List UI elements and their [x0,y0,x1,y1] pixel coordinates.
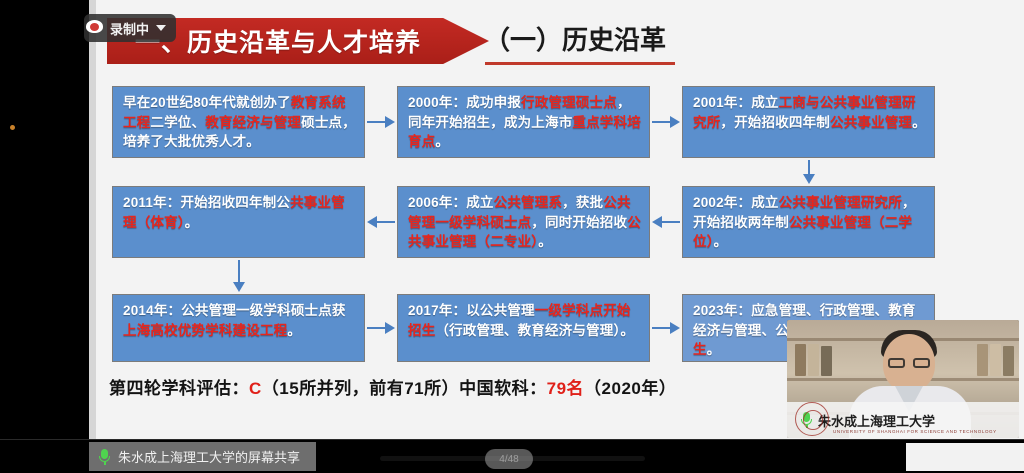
arrow-1980s-to-2000 [367,116,395,128]
flow-box-2002: 2002年：成立公共事业管理研究所，开始招收两年制公共事业管理（二学位）。 [682,186,935,258]
glasses-icon [913,358,930,368]
screen-share-label: 朱水成上海理工大学的屏幕共享 [118,447,300,466]
plain-text: 2006年：成立 [408,195,494,210]
plain-text: 2002年：成立 [693,195,779,210]
plain-text: 。 [435,134,449,149]
highlighted-text: 公共管理系 [494,195,563,210]
plain-text: 2017年：以公共管理 [408,303,535,318]
highlighted-text: 公共事业管理研究所 [779,195,902,210]
status-dot [10,125,15,130]
eval-middle: （15所并列，前有71所）中国软科： [262,379,547,398]
recording-indicator[interactable]: 录制中 [84,14,176,42]
screen-share-chip[interactable]: 朱水成上海理工大学的屏幕共享 [89,442,316,471]
banner-title: 一、历史沿革与人才培养 [135,23,421,59]
glasses-icon [888,358,905,368]
section-title-underline [485,62,675,65]
bottom-right-panel [906,443,1024,471]
evaluation-line: 第四轮学科评估：C（15所并列，前有71所）中国软科：79名（2020年） [109,374,676,399]
arrow-2006-to-2011 [367,216,395,228]
highlighted-text: 公共事业管理 [830,115,912,130]
page-indicator: 4/48 [485,449,533,469]
recording-dot-icon [86,20,103,33]
flow-box-2000: 2000年：成功申报行政管理硕士点，同年开始招生，成为上海市重点学科培育点。 [397,86,650,158]
book [977,344,988,376]
arrow-2011-to-2014 [233,260,245,292]
eval-grade: C [249,379,262,398]
plain-text: 。 [714,234,728,249]
flow-box-2017: 2017年：以公共管理一级学科点开始招生（行政管理、教育经济与管理）。 [397,294,650,362]
arrow-2014-to-2017 [367,322,395,334]
plain-text: ，获批 [562,195,603,210]
highlighted-text: 上海高校优势学科建设工程 [123,323,287,338]
plain-text: （行政管理、教育经济与管理）。 [435,323,634,338]
video-name-bar: 朱水成上海理工大学 UNIVERSITY OF SHANGHAI FOR SCI… [787,402,1019,438]
plain-text: 2001年：成立 [693,95,779,110]
flow-box-2006: 2006年：成立公共管理系，获批公共管理一级学科硕士点，同时开始招收公共事业管理… [397,186,650,258]
university-logo-text: UNIVERSITY OF SHANGHAI FOR SCIENCE AND T… [833,429,997,434]
participant-video-tile[interactable]: 朱水成上海理工大学 UNIVERSITY OF SHANGHAI FOR SCI… [787,320,1019,438]
plain-text: 2014年：公共管理一级学科硕士点获 [123,303,346,318]
arrow-2001-to-2002 [803,160,815,184]
section-title: （一）历史沿革 [484,20,666,57]
plain-text: ，同时开始招收 [531,215,627,230]
screen-share-window: 一、历史沿革与人才培养 （一）历史沿革 早在20世纪80年代就创办了教育系统工程… [0,0,1024,473]
eval-rank: 79名 [547,379,584,398]
book [795,344,806,376]
plain-text: 。 [185,215,199,230]
highlighted-text: 行政管理硕士点 [521,95,617,110]
eval-prefix: 第四轮学科评估： [109,379,249,398]
book [990,344,1001,376]
book [821,346,832,376]
participant-name: 朱水成上海理工大学 [818,411,935,430]
bottom-bar: 朱水成上海理工大学的屏幕共享 4/48 [0,440,1024,473]
book [808,344,819,376]
recording-label: 录制中 [110,19,149,38]
plain-text: 。 [287,323,301,338]
arrow-2000-to-2001 [652,116,680,128]
flow-box-2001: 2001年：成立工商与公共事业管理研究所，开始招收四年制公共事业管理。 [682,86,935,158]
highlighted-text: 教育经济与管理 [205,115,301,130]
eval-suffix: （2020年） [584,379,676,398]
plain-text: 。 [912,115,926,130]
plain-text: 早在20世纪80年代就创办了 [123,95,291,110]
plain-text: 2000年：成功申报 [408,95,521,110]
plain-text: 二学位、 [150,115,205,130]
flow-box-2014: 2014年：公共管理一级学科硕士点获上海高校优势学科建设工程。 [112,294,365,362]
plain-text: 。 [538,234,552,249]
flow-box-2011: 2011年：开始招收四年制公共事业管理（体育）。 [112,186,365,258]
book [1003,346,1014,376]
slide-left-gutter [89,0,96,440]
plain-text: 。 [707,342,721,357]
arrow-2002-to-2006 [652,216,680,228]
chevron-down-icon[interactable] [156,25,166,31]
flow-box-1980s: 早在20世纪80年代就创办了教育系统工程二学位、教育经济与管理硕士点，培养了大批… [112,86,365,158]
plain-text: ，开始招收四年制 [720,115,830,130]
microphone-icon[interactable] [99,449,110,465]
arrow-2017-to-2023 [652,322,680,334]
plain-text: 2011年：开始招收四年制公 [123,195,290,210]
university-logo-icon [795,402,829,436]
